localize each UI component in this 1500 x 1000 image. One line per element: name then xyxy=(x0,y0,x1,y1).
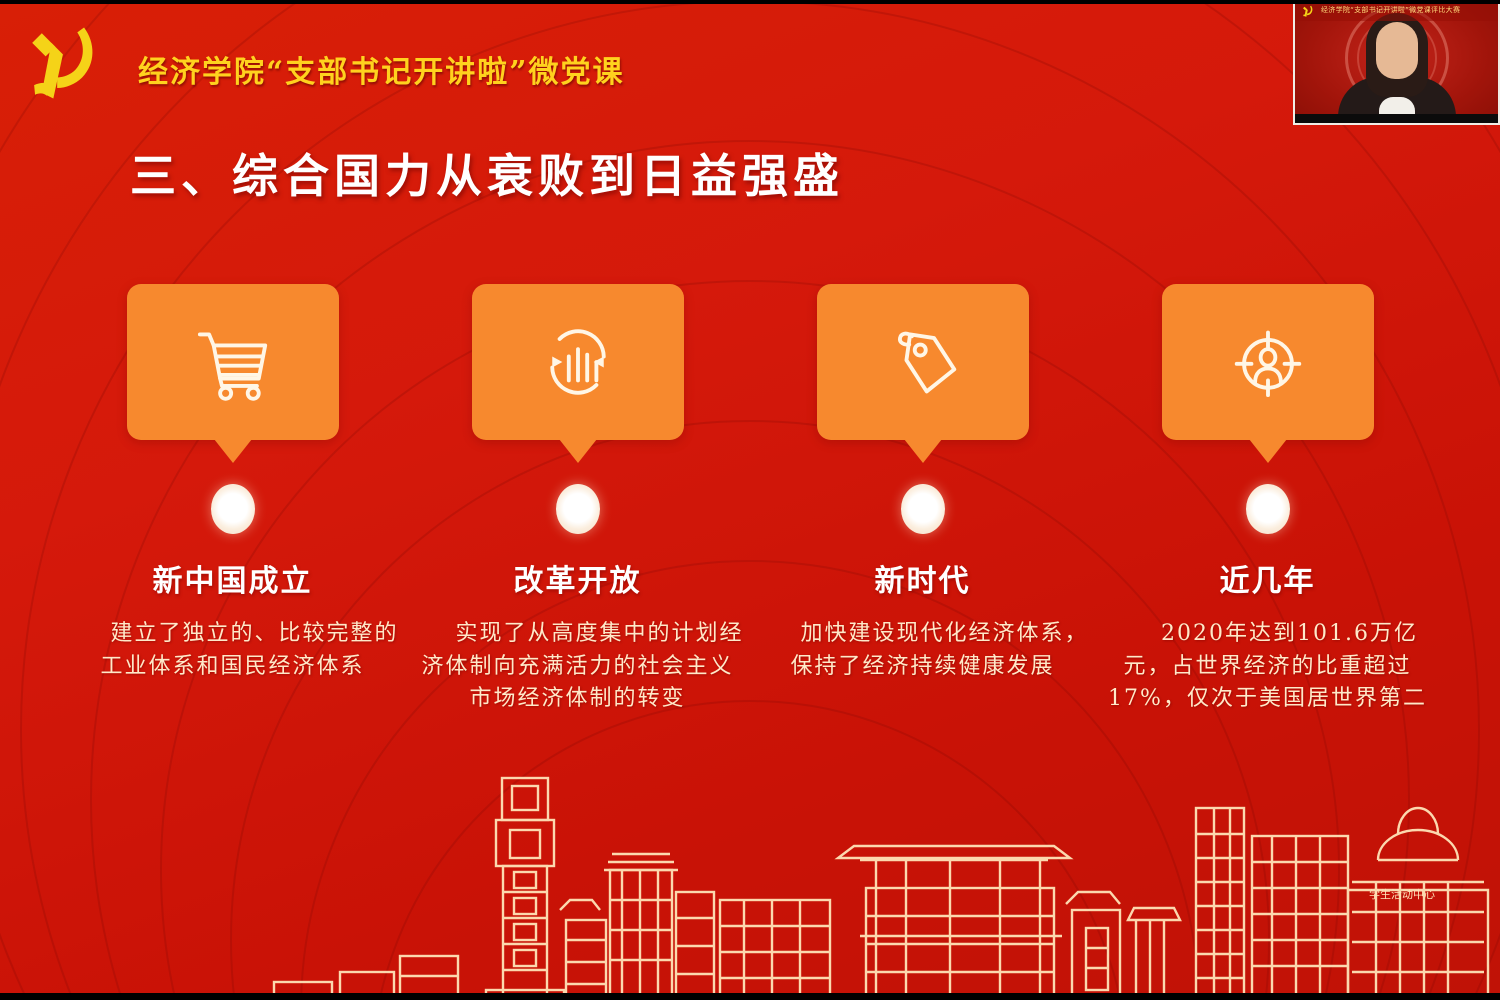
timeline-title-4: 近几年 xyxy=(1095,556,1440,600)
timeline-title-2: 改革开放 xyxy=(405,556,750,600)
refresh-bar-chart-icon xyxy=(532,316,624,408)
shopping-cart-icon xyxy=(187,316,279,408)
timeline-dot-1 xyxy=(211,484,255,534)
timeline-item-2: 改革开放 实现了从高度集中的计划经济体制向充满活力的社会主义市场经济体制的转变 xyxy=(405,284,750,716)
webcam-letterbox xyxy=(1295,114,1498,123)
timeline-dot-2 xyxy=(556,484,600,534)
timeline-row: 新中国成立 建立了独立的、比较完整的工业体系和国民经济体系 改革开放 实现了从高… xyxy=(0,0,1500,1000)
person-target-icon xyxy=(1222,316,1314,408)
timeline-desc-2: 实现了从高度集中的计划经济体制向充满活力的社会主义市场经济体制的转变 xyxy=(405,618,750,716)
timeline-item-3: 新时代 加快建设现代化经济体系，保持了经济持续健康发展 xyxy=(750,284,1095,683)
timeline-item-1: 新中国成立 建立了独立的、比较完整的工业体系和国民经济体系 xyxy=(60,284,405,683)
webcam-banner: 经济学院“支部书记开讲啦”微党课评比大赛 xyxy=(1295,2,1498,21)
webcam-banner-text: 经济学院“支部书记开讲啦”微党课评比大赛 xyxy=(1321,5,1460,15)
timeline-title-3: 新时代 xyxy=(750,556,1095,600)
presenter-avatar xyxy=(1332,13,1462,117)
timeline-dot-4 xyxy=(1246,484,1290,534)
timeline-title-1: 新中国成立 xyxy=(60,556,405,600)
price-tag-icon xyxy=(877,316,969,408)
timeline-card-2 xyxy=(472,284,684,440)
presentation-slide: 经济学院“支部书记开讲啦”微党课 三、综合国力从衰败到日益强盛 新 xyxy=(0,0,1500,1000)
letterbox-bottom xyxy=(0,993,1500,1000)
timeline-desc-1: 建立了独立的、比较完整的工业体系和国民经济体系 xyxy=(60,618,405,683)
timeline-card-1 xyxy=(127,284,339,440)
webcam-video-overlay[interactable]: 经济学院“支部书记开讲啦”微党课评比大赛 xyxy=(1293,0,1500,125)
timeline-card-3 xyxy=(817,284,1029,440)
timeline-desc-4: 2020年达到101.6万亿元，占世界经济的比重超过17%，仅次于美国居世界第二 xyxy=(1095,618,1440,716)
hammer-and-sickle-icon xyxy=(1300,4,1315,19)
timeline-item-4: 近几年 2020年达到101.6万亿元，占世界经济的比重超过17%，仅次于美国居… xyxy=(1095,284,1440,716)
timeline-desc-3: 加快建设现代化经济体系，保持了经济持续健康发展 xyxy=(750,618,1095,683)
letterbox-top xyxy=(0,0,1500,4)
timeline-dot-3 xyxy=(901,484,945,534)
timeline-card-4 xyxy=(1162,284,1374,440)
